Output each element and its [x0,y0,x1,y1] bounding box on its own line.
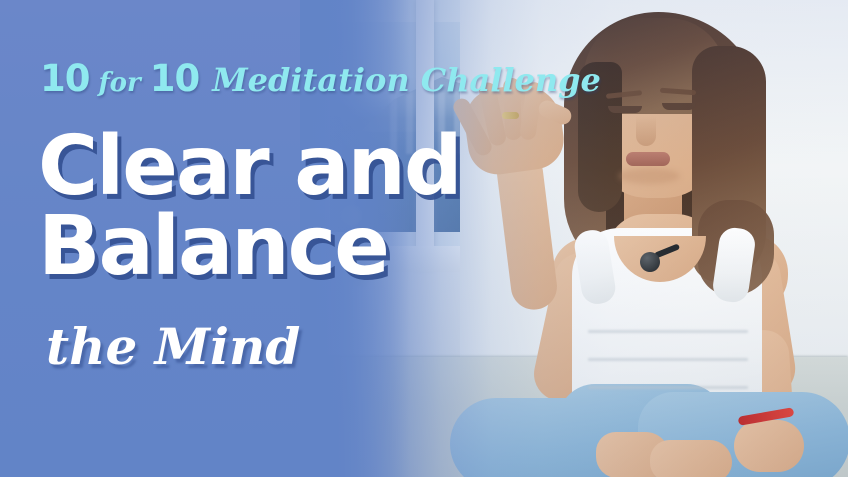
video-thumbnail: 10 for 10 Meditation Challenge Clear and… [0,0,848,477]
kicker-rest-text: Meditation Challenge [212,64,601,96]
kicker-connector: for [99,70,141,96]
main-title: Clear and Balance [38,128,461,286]
title-line-2: Balance [38,208,461,286]
subtitle: the Mind [46,322,300,372]
kicker-number-one: 10 [40,60,90,97]
kicker-number-two: 10 [150,60,200,97]
text-layer: 10 for 10 Meditation Challenge Clear and… [0,0,848,477]
kicker-line: 10 for 10 Meditation Challenge [40,60,601,97]
title-line-1: Clear and [38,128,461,206]
